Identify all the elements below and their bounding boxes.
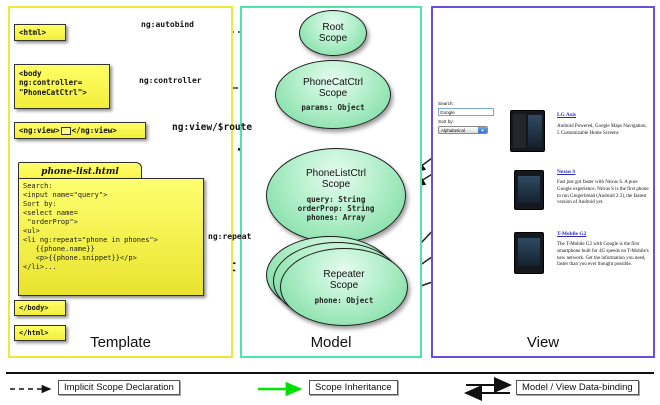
scope-root-name: Root Scope bbox=[319, 22, 347, 44]
label-ng-autobind: ng:autobind bbox=[141, 20, 194, 29]
body-tag-line-3: "PhoneCatCtrl"> bbox=[19, 88, 105, 97]
label-ng-repeat: ng:repeat bbox=[208, 232, 251, 241]
diagram-canvas: <html> <body ng:controller= "PhoneCatCtr… bbox=[0, 0, 660, 405]
view-sort-label: Sort by: bbox=[438, 119, 454, 124]
legend: Implicit Scope Declaration Scope Inherit… bbox=[0, 372, 660, 405]
phone-link-2[interactable]: Nexus S bbox=[557, 169, 575, 175]
legend-label-implicit: Implicit Scope Declaration bbox=[58, 380, 180, 395]
body-tag-line-2: ng:controller= bbox=[19, 78, 105, 87]
ngview-tag-box: <ng:view> </ng:view> bbox=[14, 122, 146, 139]
phone-thumbnail-3 bbox=[514, 232, 544, 274]
view-sort-select-value: Alphabetical bbox=[441, 128, 465, 133]
scope-root: Root Scope bbox=[299, 10, 367, 56]
scope-phonecatctrl-name: PhoneCatCtrl Scope bbox=[303, 77, 363, 99]
template-file-card: phone-list.html Search: <input name="que… bbox=[18, 162, 204, 297]
phone-snippet-1: Android Powered, Google Maps Navigation,… bbox=[557, 124, 649, 138]
legend-label-inherit: Scope Inheritance bbox=[309, 380, 398, 395]
scope-repeater-name: Repeater Scope bbox=[323, 269, 364, 291]
scope-phonelistctrl-props: query: String orderProp: String phones: … bbox=[298, 195, 375, 223]
ngview-slot-icon bbox=[61, 127, 71, 135]
phone-thumbnail-2 bbox=[514, 170, 544, 210]
html-open-tag-text: <html> bbox=[19, 28, 46, 37]
file-card-code: Search: <input name="query"> Sort by: <s… bbox=[18, 178, 204, 296]
ngview-close-text: </ng:view> bbox=[72, 126, 117, 135]
body-tag-line-1: <body bbox=[19, 69, 105, 78]
view-search-input[interactable]: Google bbox=[438, 108, 494, 116]
body-close-tag-text: </body> bbox=[19, 304, 49, 313]
scope-repeater-props: phone: Object bbox=[315, 296, 374, 305]
column-label-view: View bbox=[431, 334, 655, 351]
scope-phonecatctrl: PhoneCatCtrl Scope params: Object bbox=[275, 60, 391, 129]
chevron-down-icon: ▼ bbox=[478, 127, 487, 133]
phone-thumbnail-1 bbox=[510, 110, 545, 152]
scope-repeater: Repeater Scope phone: Object bbox=[280, 248, 408, 326]
scope-phonelistctrl: PhoneListCtrl Scope query: String orderP… bbox=[266, 148, 406, 243]
phone-link-3[interactable]: T-Mobile G2 bbox=[557, 231, 586, 237]
ngview-open-text: <ng:view> bbox=[19, 126, 60, 135]
view-sort-select[interactable]: Alphabetical ▼ bbox=[438, 126, 488, 134]
column-label-template: Template bbox=[8, 334, 233, 351]
phone-snippet-2: Fast just got faster with Nexus S. A pur… bbox=[557, 180, 649, 207]
scope-phonelistctrl-name: PhoneListCtrl Scope bbox=[306, 168, 366, 190]
label-ng-view-route: ng:view/$route bbox=[172, 122, 252, 133]
label-ng-controller: ng:controller bbox=[139, 76, 202, 85]
phone-link-1[interactable]: LG Axis bbox=[557, 112, 576, 118]
phone-snippet-3: The T-Mobile G2 with Google is the first… bbox=[557, 242, 649, 269]
html-open-tag: <html> bbox=[14, 24, 66, 41]
column-label-model: Model bbox=[240, 334, 422, 351]
body-tag-box: <body ng:controller= "PhoneCatCtrl"> bbox=[14, 64, 110, 109]
body-close-tag: </body> bbox=[14, 300, 66, 316]
legend-label-databind: Model / View Data-binding bbox=[516, 380, 639, 395]
scope-phonecatctrl-props: params: Object bbox=[301, 103, 364, 112]
view-search-label: Search: bbox=[438, 101, 454, 106]
